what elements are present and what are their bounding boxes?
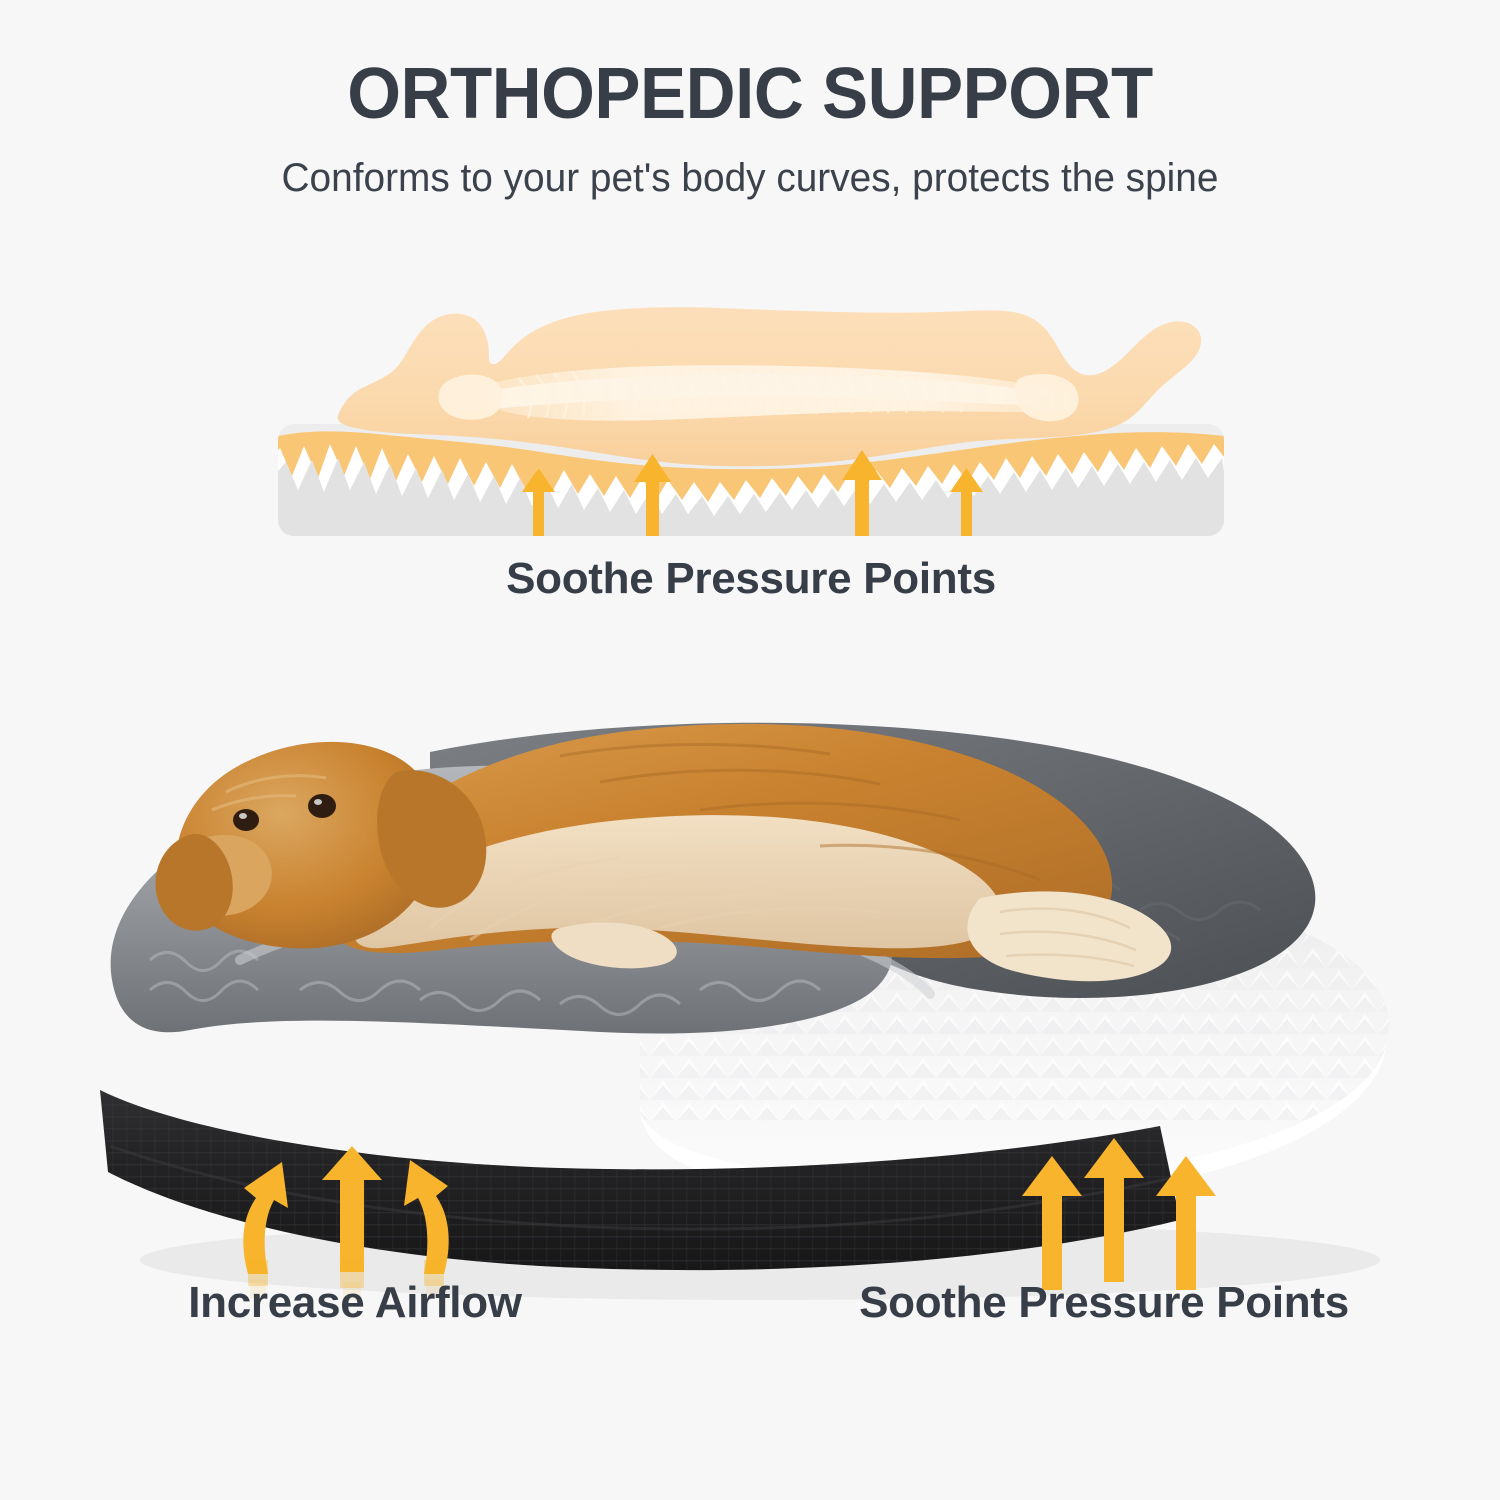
page-title: ORTHOPEDIC SUPPORT — [30, 0, 1470, 130]
dog-eye-right — [308, 794, 336, 818]
label-soothe-pressure-points: Soothe Pressure Points — [840, 1278, 1368, 1328]
label-increase-airflow: Increase Airflow — [170, 1278, 540, 1328]
dog-eye-left — [233, 809, 259, 831]
product-photo-scene — [0, 660, 1500, 1300]
header: ORTHOPEDIC SUPPORT Conforms to your pet'… — [0, 0, 1500, 198]
diagram-label-pressure: Soothe Pressure Points — [278, 554, 1224, 604]
foam-cross-section-illustration — [278, 286, 1224, 536]
dog-on-orthopedic-bed-photo — [0, 660, 1500, 1300]
page-subtitle: Conforms to your pet's body curves, prot… — [23, 130, 1478, 198]
orthopedic-foam-diagram: Soothe Pressure Points — [278, 286, 1224, 626]
foam-pressure-arrows — [1022, 1138, 1216, 1290]
